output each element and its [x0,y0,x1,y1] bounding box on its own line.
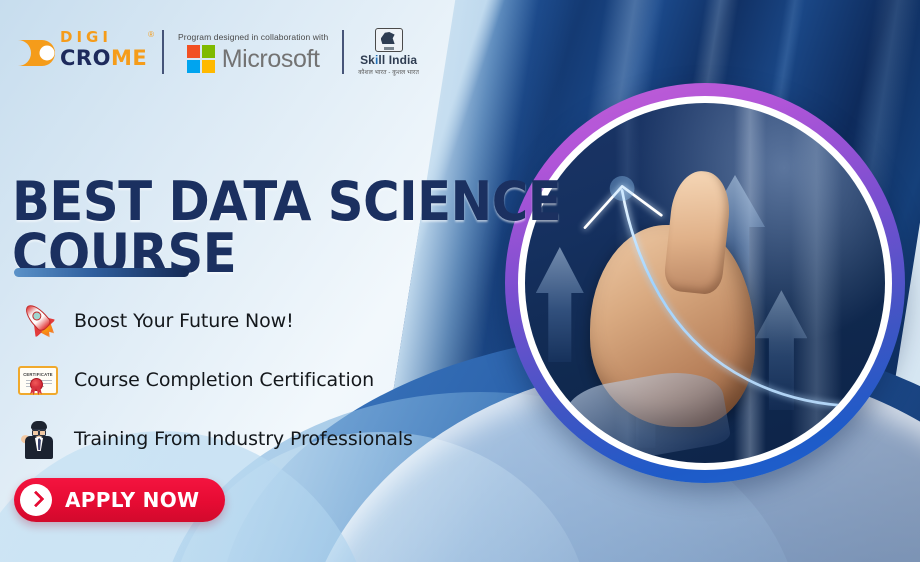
digicrome-logo-text: DIGI CROME ® [60,30,152,69]
feature-list: Boost Your Future Now! CERTIFICATE Cours… [16,300,413,460]
list-item: Boost Your Future Now! [16,300,413,342]
hero-image-inner-ring [518,96,892,470]
apply-now-label: APPLY NOW [65,488,199,512]
microsoft-wordmark: Microsoft [222,46,320,72]
feature-label: Training From Industry Professionals [74,428,413,450]
business-professional-icon [16,418,60,460]
page-title: BEST DATA SCIENCE COURSE [12,176,561,280]
chevron-right-circle-icon [20,484,52,516]
registered-trademark-icon: ® [148,30,154,39]
skill-india-emblem-icon [375,28,403,52]
logo-digi-text: DIGI [60,30,152,45]
hero-image-ring [505,83,905,483]
rocket-icon [16,300,60,342]
microsoft-squares-icon [187,45,215,73]
header-divider [342,30,344,74]
title-underline-bar [14,268,189,277]
skill-india-subtitle: कौशल भारत - कुशल भारत [358,68,419,76]
certificate-icon: CERTIFICATE [16,359,60,401]
apply-now-button[interactable]: APPLY NOW [14,478,225,522]
list-item: CERTIFICATE Course Completion Certificat… [16,359,413,401]
feature-label: Course Completion Certification [74,369,374,391]
logo-crome-text: CROME [60,47,152,69]
header-bar: DIGI CROME ® Program designed in collabo… [16,26,419,78]
skill-india-logo: Skill India कौशल भारत - कुशल भारत [358,28,419,76]
microsoft-partner-block: Program designed in collaboration with M… [178,32,328,73]
hero-photo [525,103,885,463]
digicrome-logo[interactable]: DIGI CROME ® [16,26,148,78]
collaboration-caption: Program designed in collaboration with [178,32,328,42]
promo-banner: DIGI CROME ® Program designed in collabo… [0,0,920,562]
skill-india-wordmark: Skill India [360,53,417,67]
header-divider [162,30,164,74]
list-item: Training From Industry Professionals [16,418,413,460]
feature-label: Boost Your Future Now! [74,310,294,332]
microsoft-logo: Microsoft [187,45,320,73]
certificate-icon-caption: CERTIFICATE [23,372,53,377]
certificate-seal-icon [30,378,43,391]
